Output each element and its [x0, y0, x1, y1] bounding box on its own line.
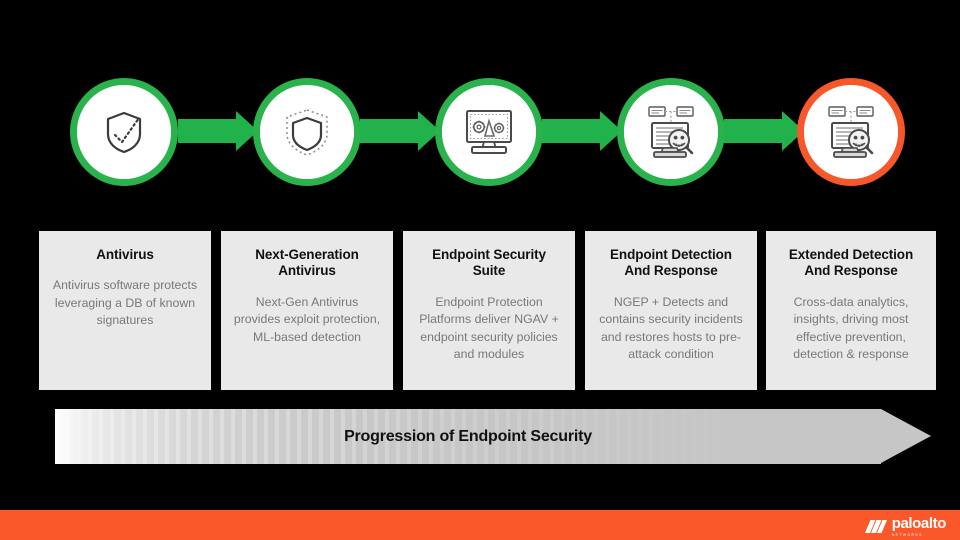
connector-arrow-4	[724, 111, 806, 151]
stage-card-title: Antivirus	[51, 247, 199, 263]
connector-bar-3	[542, 119, 602, 143]
footer-bar: paloalto NETWORKS	[0, 510, 960, 540]
stage-cards-row: Antivirus Antivirus software protects le…	[0, 231, 960, 390]
stage-card-2[interactable]: Next-Generation Antivirus Next-Gen Antiv…	[221, 231, 393, 390]
stage-card-description: Next-Gen Antivirus provides exploit prot…	[233, 294, 381, 346]
paloalto-brand-text: paloalto	[892, 516, 946, 531]
stage-card-description: Endpoint Protection Platforms deliver NG…	[415, 294, 563, 364]
shield-check-icon	[77, 85, 171, 179]
progression-bar: Progression of Endpoint Security	[55, 409, 931, 464]
connector-arrow-3	[542, 111, 624, 151]
stage-node-3[interactable]	[435, 78, 543, 186]
stage-card-description: Antivirus software protects leveraging a…	[51, 277, 199, 329]
paloalto-networks-subtext: NETWORKS	[892, 533, 923, 537]
connector-arrow-2	[360, 111, 442, 151]
stage-card-3[interactable]: Endpoint Security Suite Endpoint Protect…	[403, 231, 575, 390]
paloalto-wordmark: paloalto NETWORKS	[892, 516, 946, 537]
stage-node-1[interactable]	[70, 78, 178, 186]
connector-bar-4	[724, 119, 784, 143]
stage-card-title: Endpoint Security Suite	[415, 247, 563, 280]
stage-node-4[interactable]	[617, 78, 725, 186]
desktop-gears-icon	[442, 85, 536, 179]
stage-card-description: Cross-data analytics, insights, driving …	[778, 294, 924, 364]
stage-card-title: Extended Detection And Response	[778, 247, 924, 280]
stage-card-description: NGEP + Detects and contains security inc…	[597, 294, 745, 364]
stage-card-1[interactable]: Antivirus Antivirus software protects le…	[39, 231, 211, 390]
connector-arrow-1	[178, 111, 260, 151]
connector-bar-2	[360, 119, 420, 143]
paloalto-networks-logo: paloalto NETWORKS	[865, 516, 946, 537]
stage-card-5[interactable]: Extended Detection And Response Cross-da…	[766, 231, 936, 390]
stage-node-5[interactable]	[797, 78, 905, 186]
endpoint-threat-search-icon	[624, 85, 718, 179]
connector-bar-1	[178, 119, 238, 143]
shield-dashed-icon	[260, 85, 354, 179]
stage-flow-row	[0, 78, 960, 193]
slide-canvas: Antivirus Antivirus software protects le…	[0, 0, 960, 540]
endpoint-threat-search-icon	[804, 85, 898, 179]
stage-card-4[interactable]: Endpoint Detection And Response NGEP + D…	[585, 231, 757, 390]
stage-card-title: Endpoint Detection And Response	[597, 247, 745, 280]
stage-node-2[interactable]	[253, 78, 361, 186]
progression-bar-label: Progression of Endpoint Security	[55, 409, 881, 464]
stage-card-title: Next-Generation Antivirus	[233, 247, 381, 280]
progression-bar-arrow-tip	[881, 409, 931, 463]
paloalto-slashes-icon	[865, 519, 887, 534]
